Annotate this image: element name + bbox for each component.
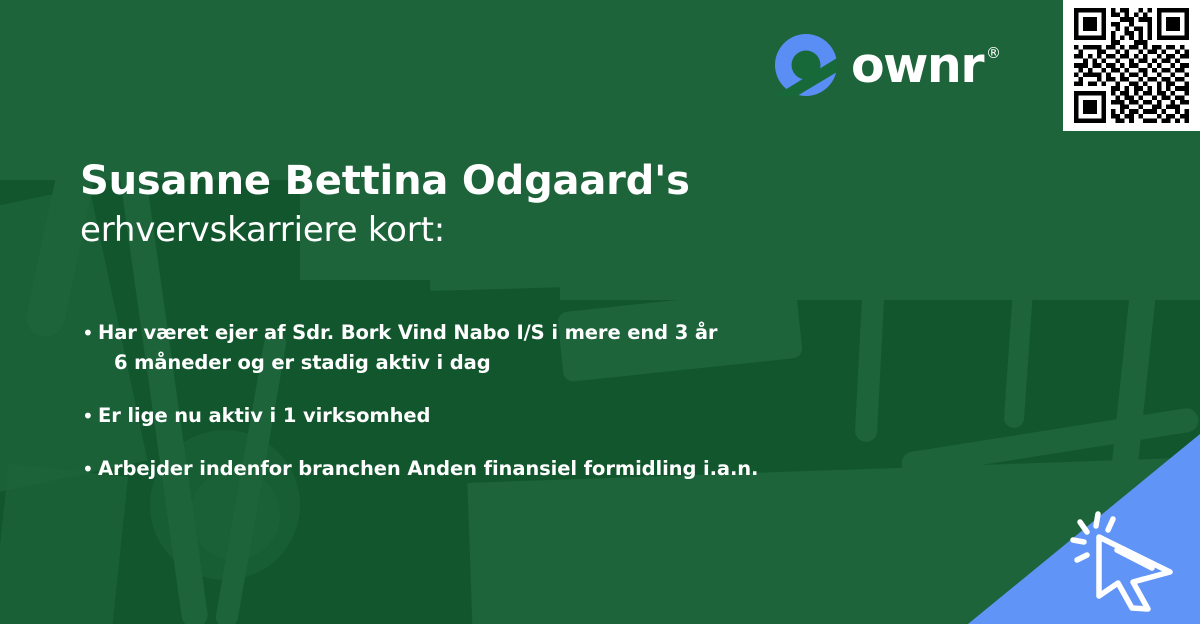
list-item-line: Er lige nu aktiv i 1 virksomhed — [98, 404, 430, 427]
list-item: •Arbejder indenfor branchen Anden finans… — [82, 454, 982, 484]
ownr-circle-logo-icon — [775, 34, 837, 96]
registered-trademark-symbol: ® — [986, 46, 1001, 61]
bullet-dot-icon: • — [82, 454, 98, 484]
page-title: Susanne Bettina Odgaard's erhvervskarrie… — [80, 155, 900, 253]
list-item-label: Har været ejer af Sdr. Bork Vind Nabo I/… — [98, 318, 717, 378]
list-item-label: Er lige nu aktiv i 1 virksomhed — [98, 401, 430, 431]
qr-code[interactable] — [1063, 0, 1200, 131]
list-item-line-continued: 6 måneder og er stadig aktiv i dag — [98, 348, 717, 378]
career-card: ownr ® Susanne Bettina Odgaard's erhverv… — [0, 0, 1200, 624]
ownr-wordmark: ownr — [851, 41, 983, 90]
blue-triangle — [968, 434, 1200, 624]
subtitle: erhvervskarriere kort: — [80, 207, 900, 253]
qr-code-image — [1071, 8, 1192, 123]
list-item: •Er lige nu aktiv i 1 virksomhed — [82, 401, 982, 431]
career-facts-list: •Har været ejer af Sdr. Bork Vind Nabo I… — [82, 318, 982, 484]
click-cursor-icon — [1070, 510, 1182, 616]
ownr-logo[interactable]: ownr ® — [775, 34, 1001, 96]
person-name: Susanne Bettina Odgaard's — [80, 155, 900, 207]
bullet-dot-icon: • — [82, 401, 98, 431]
bullet-dot-icon: • — [82, 318, 98, 348]
list-item: •Har været ejer af Sdr. Bork Vind Nabo I… — [82, 318, 982, 378]
list-item-line: Har været ejer af Sdr. Bork Vind Nabo I/… — [98, 321, 717, 344]
blue-corner-decoration — [968, 434, 1200, 624]
list-item-label: Arbejder indenfor branchen Anden finansi… — [98, 454, 758, 484]
list-item-line: Arbejder indenfor branchen Anden finansi… — [98, 457, 758, 480]
